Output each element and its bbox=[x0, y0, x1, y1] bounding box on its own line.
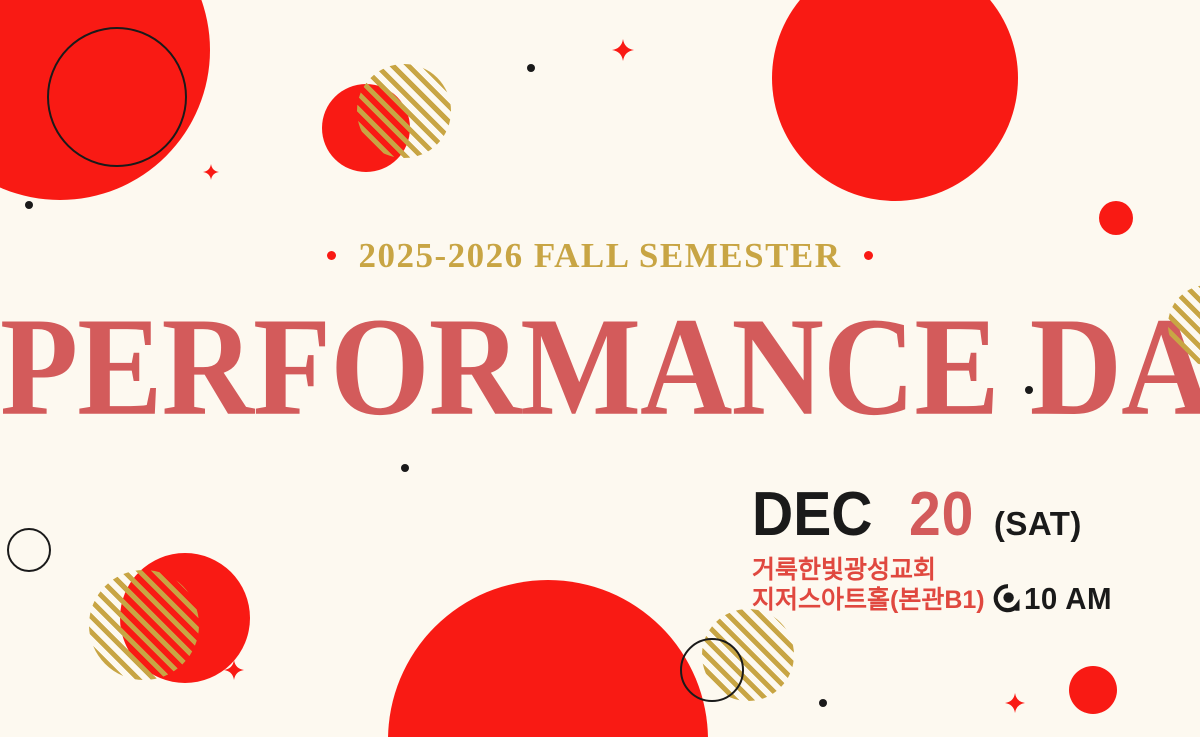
page-title: PERFORMANCE DAY bbox=[0, 296, 1200, 437]
venue-address: 거룩한빛광성교회 지저스아트홀(본관B1) bbox=[752, 556, 985, 615]
clock-icon bbox=[993, 583, 1023, 614]
date-weekday: (SAT) bbox=[994, 507, 1082, 540]
venue-and-time: 거룩한빛광성교회 지저스아트홀(본관B1) 10 AM bbox=[752, 556, 1122, 615]
subtitle-row: 2025-2026 FALL SEMESTER bbox=[0, 238, 1200, 273]
date-month: DEC bbox=[752, 484, 872, 546]
event-info-block: DEC 20 (SAT) 거룩한빛광성교회 지저스아트홀(본관B1) 10 AM bbox=[752, 484, 1122, 615]
venue-line-2: 지저스아트홀(본관B1) bbox=[752, 586, 985, 616]
text-layer: 2025-2026 FALL SEMESTER PERFORMANCE DAY … bbox=[0, 0, 1200, 737]
date-day: 20 bbox=[909, 484, 974, 546]
subtitle-dot-left bbox=[327, 251, 336, 260]
venue-line-1: 거룩한빛광성교회 bbox=[752, 556, 985, 586]
event-time: 10 AM bbox=[993, 583, 1117, 615]
time-label: 10 AM bbox=[1024, 583, 1112, 614]
semester-subtitle: 2025-2026 FALL SEMESTER bbox=[358, 238, 841, 273]
event-date: DEC 20 (SAT) bbox=[752, 484, 1122, 546]
performance-day-poster: 2025-2026 FALL SEMESTER PERFORMANCE DAY … bbox=[0, 0, 1200, 737]
subtitle-dot-right bbox=[864, 251, 873, 260]
